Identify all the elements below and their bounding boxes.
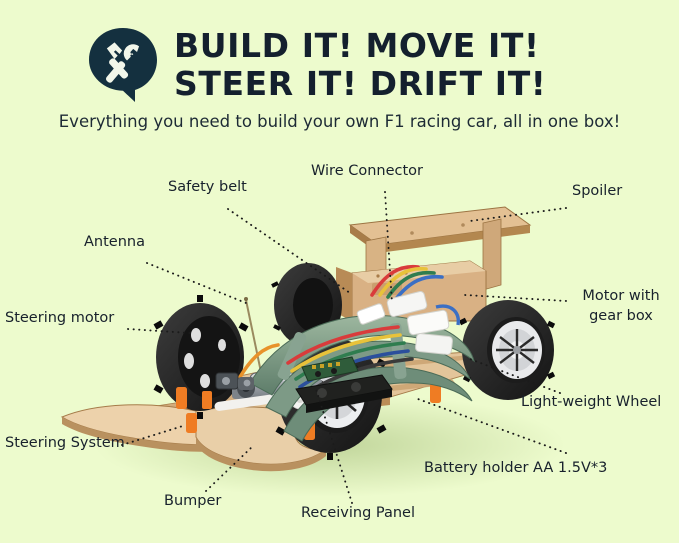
title-line-2: STEER IT! DRIFT IT! xyxy=(174,65,666,103)
callout-steering-motor: Steering motor xyxy=(5,310,114,327)
callout-wire-connector: Wire Connector xyxy=(311,163,423,180)
callout-safety-belt: Safety belt xyxy=(168,179,247,196)
f1-car-photo xyxy=(0,145,679,543)
callout-spoiler: Spoiler xyxy=(572,183,622,200)
callout-antenna: Antenna xyxy=(84,234,145,251)
callout-receiving-panel: Receiving Panel xyxy=(301,505,415,522)
title-block: BUILD IT! MOVE IT! STEER IT! DRIFT IT! xyxy=(174,27,666,103)
product-diagram: Safety belt Wire Connector Spoiler Anten… xyxy=(0,145,679,543)
subtitle: Everything you need to build your own F1… xyxy=(0,112,679,131)
callout-battery-holder: Battery holder AA 1.5V*3 xyxy=(424,460,607,477)
callout-motor-gear-box: Motor with gear box xyxy=(573,286,669,326)
header-banner: BUILD IT! MOVE IT! STEER IT! DRIFT IT! E… xyxy=(0,0,679,145)
callout-bumper: Bumper xyxy=(164,493,221,510)
title-line-1: BUILD IT! MOVE IT! xyxy=(174,27,666,65)
callout-light-weight-wheel: Light-weight Wheel xyxy=(521,394,661,411)
callout-steering-system: Steering System xyxy=(5,435,125,452)
header-row: BUILD IT! MOVE IT! STEER IT! DRIFT IT! xyxy=(86,22,666,107)
hammer-wrench-speech-bubble-icon xyxy=(86,26,160,104)
